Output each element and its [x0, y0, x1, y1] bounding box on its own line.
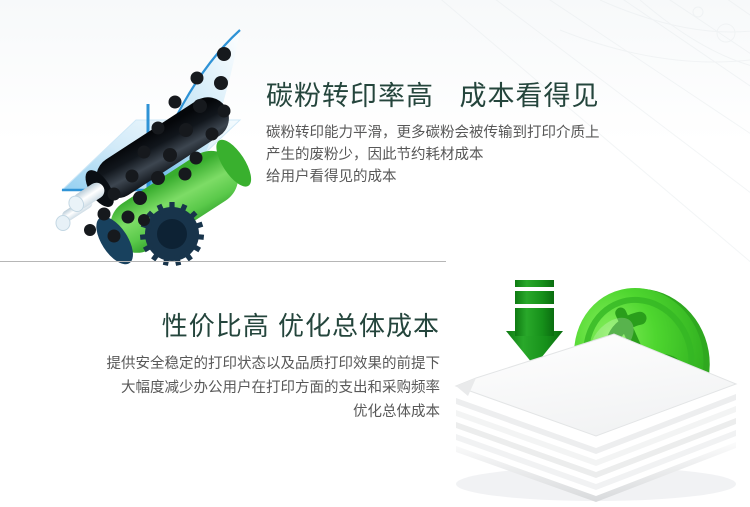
section-cost-savings: 性价比高 优化总体成本 提供安全稳定的打印状态以及品质打印效果的前提下 大幅度减… [0, 262, 750, 507]
cost-savings-icon [438, 270, 750, 507]
section1-title: 碳粉转印率高 成本看得见 [266, 78, 686, 114]
section1-body: 碳粉转印能力平滑，更多碳粉会被传输到打印介质上 产生的废粉少，因此节约耗材成本 … [266, 122, 686, 188]
section2-title: 性价比高 优化总体成本 [20, 309, 440, 343]
section-toner-transfer: 碳粉转印率高 成本看得见 碳粉转印能力平滑，更多碳粉会被传输到打印介质上 产生的… [0, 0, 750, 262]
section1-body-line-2: 产生的废粉少，因此节约耗材成本 [266, 144, 686, 166]
drum-roller-icon [44, 8, 284, 266]
section2-body-line-1: 提供安全稳定的打印状态以及品质打印效果的前提下 [20, 352, 440, 376]
section1-text-block: 碳粉转印率高 成本看得见 碳粉转印能力平滑，更多碳粉会被传输到打印介质上 产生的… [266, 78, 686, 188]
marketing-panel: 碳粉转印率高 成本看得见 碳粉转印能力平滑，更多碳粉会被传输到打印介质上 产生的… [0, 0, 750, 507]
section1-body-line-1: 碳粉转印能力平滑，更多碳粉会被传输到打印介质上 [266, 122, 686, 144]
section2-body: 提供安全稳定的打印状态以及品质打印效果的前提下 大幅度减少办公用户在打印方面的支… [20, 352, 440, 424]
section2-text-block: 性价比高 优化总体成本 提供安全稳定的打印状态以及品质打印效果的前提下 大幅度减… [20, 309, 440, 424]
section2-body-line-2: 大幅度减少办公用户在打印方面的支出和采购频率 [20, 376, 440, 400]
section2-body-line-3: 优化总体成本 [20, 400, 440, 424]
section1-body-line-3: 给用户看得见的成本 [266, 166, 686, 188]
